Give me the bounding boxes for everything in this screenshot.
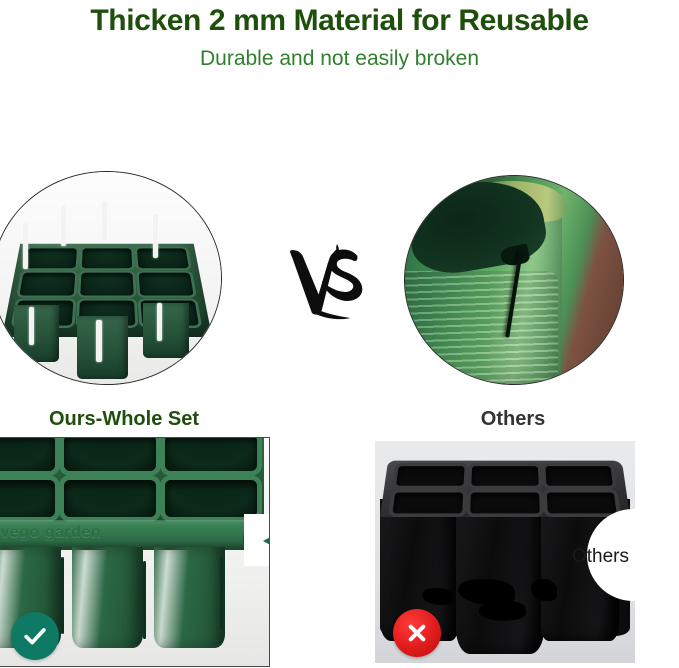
- black-tray-top: [380, 461, 630, 517]
- good-product-panel: vego garden: [0, 437, 270, 667]
- green-tray-top: [0, 437, 264, 525]
- black-pot: [456, 499, 544, 654]
- green-tray-cell: [0, 437, 55, 471]
- green-tray-cell: [64, 480, 156, 517]
- tray-cell: [25, 249, 77, 269]
- green-tray-cell: [165, 480, 257, 517]
- page-subtitle: Durable and not easily broken: [0, 46, 679, 71]
- green-tray-cell: [0, 480, 55, 517]
- green-tray-cell-grid: [0, 437, 257, 517]
- tray-leg: [77, 316, 127, 380]
- others-callout-label: Others: [572, 546, 629, 568]
- header: Thicken 2 mm Material for Reusable Durab…: [0, 0, 679, 71]
- tray-drain-slot: [102, 201, 107, 241]
- green-pot-slot: [143, 561, 146, 639]
- check-icon: [21, 622, 49, 650]
- black-tray-cell: [397, 466, 465, 486]
- green-tray-cell: [165, 437, 257, 471]
- black-tray-cell: [547, 492, 617, 513]
- tray-drain-slot: [61, 206, 66, 246]
- x-icon: [403, 619, 431, 647]
- tray-leg: [143, 303, 189, 358]
- green-pot-slot: [220, 557, 223, 630]
- black-tray-cell-grid: [393, 466, 617, 513]
- tray-cell: [20, 273, 75, 295]
- tray-cell: [80, 273, 134, 295]
- ours-product-photo: [0, 171, 222, 385]
- black-tray-cell: [471, 466, 538, 486]
- green-tray-cell: [64, 437, 156, 471]
- green-pot-slot: [61, 557, 64, 635]
- tray-drain-slot: [29, 307, 34, 345]
- versus-mark: [285, 239, 369, 323]
- tray-scene: [0, 172, 221, 384]
- pot-ribs: [404, 271, 558, 383]
- crack-scene: [405, 176, 623, 384]
- green-pot: [154, 547, 225, 647]
- left-arrow-icon: [263, 530, 270, 552]
- tray-drain-slot: [157, 303, 162, 341]
- status-badge-x: [393, 609, 441, 657]
- tray-drain-slot: [96, 320, 102, 362]
- black-tray-cell: [393, 492, 463, 513]
- green-pot: [72, 547, 143, 647]
- tray-cell: [137, 249, 189, 269]
- status-badge-check: [11, 612, 59, 660]
- brand-text: vego garden: [0, 524, 101, 542]
- page-title: Thicken 2 mm Material for Reusable: [0, 4, 679, 39]
- black-tray-cell: [470, 492, 539, 513]
- comparison-row: Ours-Whole Set Others 0.8mm: [0, 71, 679, 391]
- bad-product-panel: Others: [375, 441, 635, 663]
- tray-drain-slot: [153, 214, 158, 258]
- others-photo-image: [405, 176, 623, 384]
- ours-photo-image: [0, 172, 221, 384]
- bottom-row: vego garden: [0, 425, 679, 668]
- others-product-photo: [404, 175, 624, 385]
- black-tray-cell: [545, 466, 613, 486]
- tray-cell: [82, 249, 133, 269]
- tray-drain-slot: [23, 223, 28, 269]
- tray-leg: [14, 305, 60, 362]
- tray-cell: [139, 273, 194, 295]
